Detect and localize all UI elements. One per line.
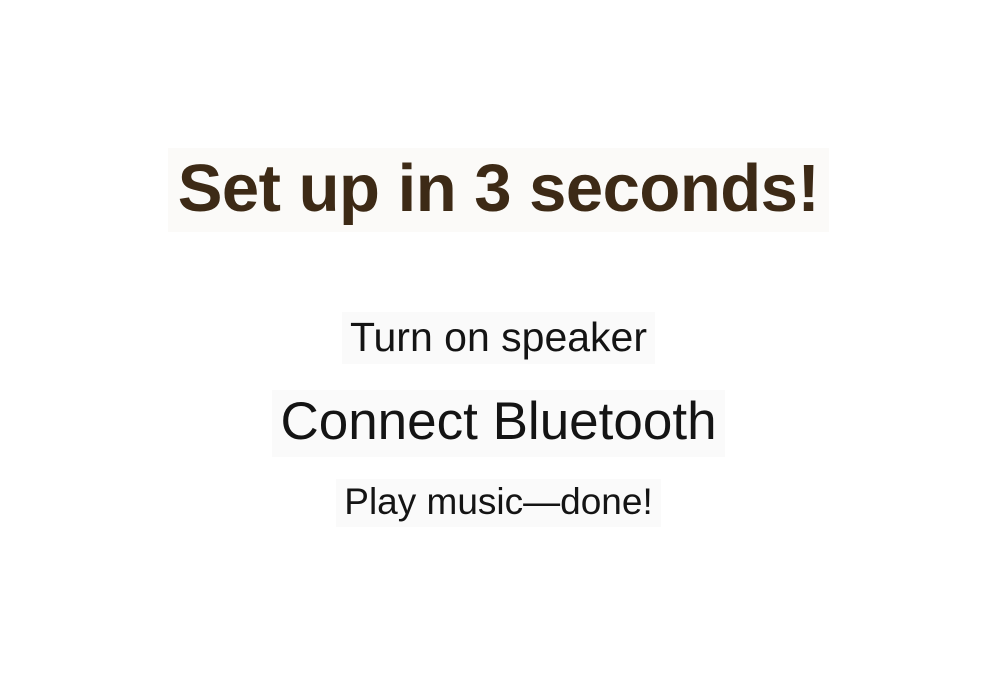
promo-slide: Set up in 3 seconds! Turn on speaker Con… <box>0 0 997 683</box>
step-label-turn-on-speaker: Turn on speaker <box>342 312 655 364</box>
list-item: Connect Bluetooth <box>0 390 997 457</box>
setup-steps-list: Turn on speaker Connect Bluetooth Play m… <box>0 312 997 527</box>
step-label-connect-bluetooth: Connect Bluetooth <box>272 390 724 457</box>
step-label-play-music: Play music—done! <box>336 479 660 527</box>
page-title: Set up in 3 seconds! <box>168 148 830 232</box>
headline-container: Set up in 3 seconds! <box>0 148 997 232</box>
list-item: Turn on speaker <box>0 312 997 364</box>
list-item: Play music—done! <box>0 479 997 527</box>
